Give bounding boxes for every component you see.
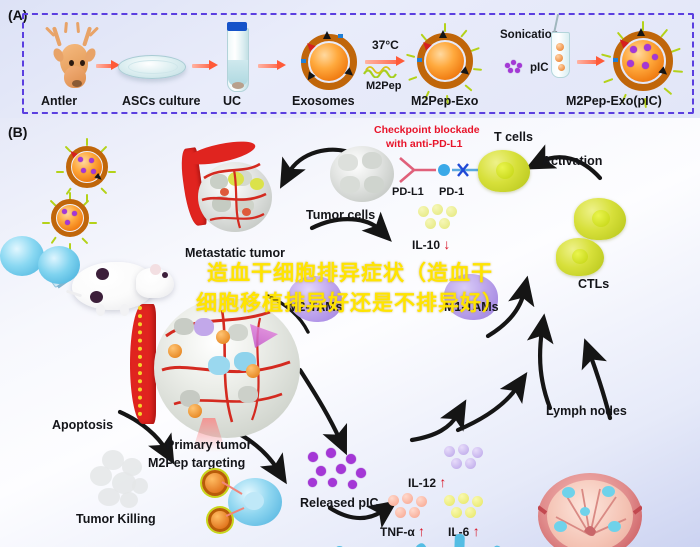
exosome-particle <box>300 33 358 91</box>
tnf-alpha-dot-cluster <box>388 493 430 519</box>
il-12-dot-cluster <box>444 444 486 470</box>
checkpoint-note-line2: with anti-PD-L1 <box>386 138 462 150</box>
caption-primary-tumor: Primary tumor <box>166 438 251 452</box>
label-pd-1: PD-1 <box>439 186 464 198</box>
caption-antler: Antler <box>41 94 77 108</box>
caption-released-pic: Released pIC <box>300 496 379 510</box>
cytokine-il-10-change: ↓ <box>443 236 450 252</box>
cytokine-tnf-alpha-name: TNF-α <box>380 525 415 539</box>
arrow-uc-to-exosomes <box>258 61 286 70</box>
il-6-dot-cluster <box>444 493 486 519</box>
caption-m1-tams: M1-TAMs <box>444 300 499 314</box>
released-pic-cluster <box>306 448 372 490</box>
mature-dc <box>420 538 502 547</box>
label-pd-l1: PD-L1 <box>392 186 424 198</box>
annotation-sonication: Sonication <box>500 29 559 41</box>
caption-tumor-killing: Tumor Killing <box>76 512 156 526</box>
cytokine-tnf-alpha: TNF-α ↑ <box>380 523 425 539</box>
ctl-cell-1 <box>574 198 626 240</box>
cytokine-tnf-alpha-change: ↑ <box>418 523 425 539</box>
arrow-sonication-to-product <box>577 57 605 66</box>
panel-b-tag: (B) <box>8 124 27 140</box>
t-cell-engaged <box>478 150 530 192</box>
pic-dot-cluster-panel-a <box>505 60 527 74</box>
nanoparticle-injected-1 <box>62 142 112 192</box>
annotation-temperature: 37°C <box>372 38 399 52</box>
monocyte-cell-2 <box>38 246 80 284</box>
m2pep-peptide-icon <box>362 66 408 78</box>
cytokine-il-10-name: IL-10 <box>412 238 440 252</box>
metastatic-tumor <box>176 148 280 244</box>
cytokine-il-10: IL-10 ↓ <box>412 236 450 252</box>
caption-apoptosis: Apoptosis <box>52 418 113 432</box>
m2pep-exosome-pic-particle <box>608 26 678 96</box>
caption-t-cells: T cells <box>494 130 533 144</box>
arrow-culture-to-uc <box>192 61 218 70</box>
cytokine-il-12: IL-12 ↑ <box>408 474 446 490</box>
caption-ctls: CTLs <box>578 277 609 291</box>
il-10-dot-cluster <box>418 204 460 232</box>
tumor-cells-cluster <box>330 146 394 204</box>
primary-tumor <box>130 294 306 444</box>
caption-m2pep-exo-pic: M2Pep-Exo(pIC) <box>566 94 662 108</box>
caption-tumor-cells: Tumor cells <box>306 208 375 222</box>
caption-activation: Activation <box>542 154 602 168</box>
caption-lymph-nodes: Lymph nodes <box>546 404 627 418</box>
apoptotic-tumor-cluster <box>88 450 150 508</box>
caption-m2pep-exo: M2Pep-Exo <box>411 94 478 108</box>
arrow-exosome-to-m2pep-exo <box>365 57 405 66</box>
ctl-cell-2 <box>556 238 604 276</box>
arrow-antler-to-culture <box>96 61 120 70</box>
monocyte-cell-1 <box>0 236 44 276</box>
annotation-pic: pIC <box>530 62 549 74</box>
lymph-node <box>538 473 642 547</box>
checkpoint-note-line1: Checkpoint blockade <box>374 124 480 136</box>
caption-uc: UC <box>223 94 241 108</box>
panel-a: (A) Antler ASCs culture <box>0 0 700 118</box>
nanoparticle-injected-2 <box>48 196 92 240</box>
m2pep-exosome-particle <box>412 28 478 94</box>
caption-exosomes: Exosomes <box>292 94 355 108</box>
caption-ascs-culture: ASCs culture <box>122 94 201 108</box>
cytokine-il-6-change: ↑ <box>473 523 480 539</box>
cytokine-il-12-change: ↑ <box>439 474 446 490</box>
scientific-figure: (A) Antler ASCs culture <box>0 0 700 547</box>
annotation-m2pep: M2Pep <box>366 80 401 92</box>
panel-b: (B) <box>0 118 700 547</box>
sonication-tube <box>551 32 570 78</box>
antler-deer-illustration <box>44 22 114 90</box>
cytokine-il-12-name: IL-12 <box>408 476 436 490</box>
caption-metastatic-tumor: Metastatic tumor <box>185 246 285 260</box>
m2pep-targeting-illustration <box>196 466 292 528</box>
